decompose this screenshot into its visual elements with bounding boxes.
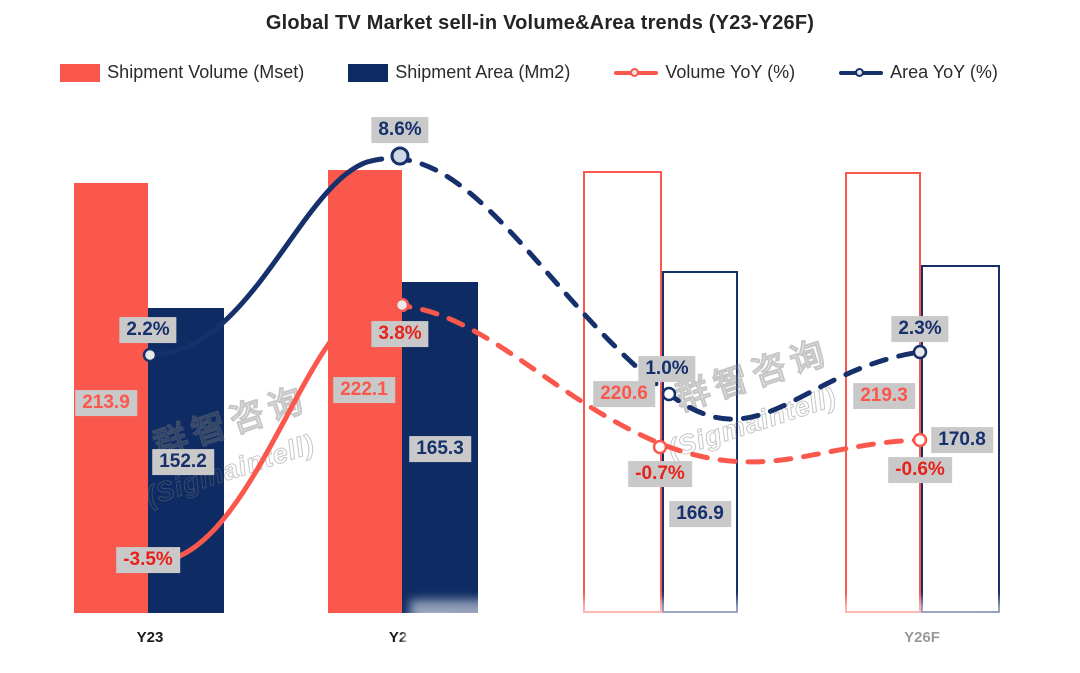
label-volume-y25f: 220.6 — [593, 381, 655, 407]
label-area-yoy-y25f: 1.0% — [638, 356, 695, 382]
axis-label-y23: Y23 — [137, 629, 164, 646]
label-area-y26f: 170.8 — [931, 427, 993, 453]
marker-area-yoy-y23[interactable] — [144, 349, 156, 361]
marker-area-yoy-y26f[interactable] — [914, 346, 926, 358]
label-volume-y23: 213.9 — [75, 390, 137, 416]
label-area-yoy-y26f: 2.3% — [891, 316, 948, 342]
label-area-y25f: 166.9 — [669, 501, 731, 527]
marker-area-yoy-y24[interactable] — [392, 148, 408, 164]
label-area-yoy-y23: 2.2% — [119, 317, 176, 343]
marker-volume-yoy-y25f[interactable] — [654, 441, 666, 453]
chart-root: Global TV Market sell-in Volume&Area tre… — [0, 0, 1080, 673]
plot-area: 群智咨询 (Sigmaintell) 群智咨询 (Sigmaintell) 2.… — [0, 0, 1080, 673]
volume-yoy-line-solid — [150, 307, 367, 563]
marker-area-yoy-y25f[interactable] — [663, 388, 675, 400]
marker-volume-yoy-y26f[interactable] — [914, 434, 926, 446]
axis-label-y24: Y2 — [389, 629, 407, 646]
area-yoy-line-solid — [150, 162, 367, 355]
label-volume-yoy-y24: 3.8% — [371, 321, 428, 347]
label-volume-yoy-y25f: -0.7% — [628, 461, 692, 487]
label-volume-yoy-y23: -3.5% — [116, 547, 180, 573]
label-volume-y24: 222.1 — [333, 377, 395, 403]
label-area-y23: 152.2 — [152, 449, 214, 475]
label-area-yoy-y24: 8.6% — [371, 117, 428, 143]
label-area-y24: 165.3 — [409, 436, 471, 462]
label-volume-y26f: 219.3 — [853, 383, 915, 409]
marker-volume-yoy-y24[interactable] — [396, 299, 408, 311]
axis-label-y26f: Y26F — [904, 629, 940, 646]
label-volume-yoy-y26f: -0.6% — [888, 457, 952, 483]
